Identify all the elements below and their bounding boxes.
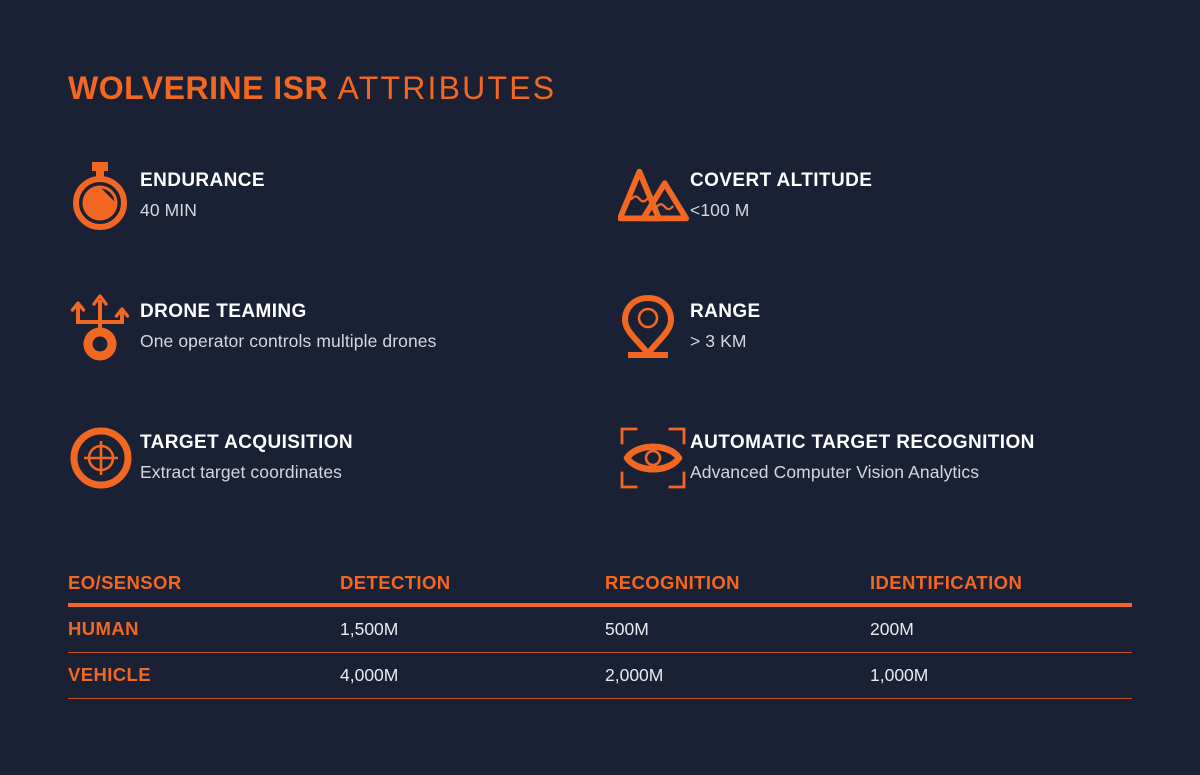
feature-row: TARGET ACQUISITION Extract target coordi… (68, 420, 1138, 494)
feature-text: DRONE TEAMING One operator controls mult… (140, 289, 437, 351)
feature-automatic-target-recognition: AUTOMATIC TARGET RECOGNITION Advanced Co… (618, 420, 1138, 494)
feature-subtitle: Extract target coordinates (140, 462, 353, 482)
feature-title: RANGE (690, 301, 761, 323)
feature-range: RANGE > 3 KM (618, 289, 1138, 363)
eye-focus-icon (618, 422, 690, 494)
feature-grid: ENDURANCE 40 MIN COVERT ALTITUDE <100 M (68, 158, 1138, 494)
mountains-icon (618, 160, 690, 232)
feature-text: RANGE > 3 KM (690, 289, 761, 351)
page-title-light: ATTRIBUTES (338, 70, 557, 106)
column-header-sensor: EO/SENSOR (68, 572, 340, 605)
cell-human-identification: 200M (870, 605, 1132, 653)
crosshair-icon (68, 422, 140, 494)
drone-teaming-icon (68, 291, 140, 363)
map-pin-icon (618, 291, 690, 363)
column-header-identification: IDENTIFICATION (870, 572, 1132, 605)
feature-row: DRONE TEAMING One operator controls mult… (68, 289, 1138, 363)
feature-title: AUTOMATIC TARGET RECOGNITION (690, 432, 1035, 454)
feature-covert-altitude: COVERT ALTITUDE <100 M (618, 158, 1138, 232)
feature-text: TARGET ACQUISITION Extract target coordi… (140, 420, 353, 482)
feature-title: DRONE TEAMING (140, 301, 437, 323)
row-label-vehicle: VEHICLE (68, 653, 340, 699)
stopwatch-icon (68, 160, 140, 232)
feature-row: ENDURANCE 40 MIN COVERT ALTITUDE <100 M (68, 158, 1138, 232)
page-title: WOLVERINE ISR ATTRIBUTES (68, 72, 556, 104)
row-label-human: HUMAN (68, 605, 340, 653)
column-header-detection: DETECTION (340, 572, 605, 605)
feature-target-acquisition: TARGET ACQUISITION Extract target coordi… (68, 420, 618, 494)
feature-subtitle: > 3 KM (690, 331, 761, 351)
page-title-bold: WOLVERINE ISR (68, 70, 328, 106)
feature-title: ENDURANCE (140, 170, 265, 192)
cell-vehicle-recognition: 2,000M (605, 653, 870, 699)
cell-human-detection: 1,500M (340, 605, 605, 653)
column-header-recognition: RECOGNITION (605, 572, 870, 605)
feature-drone-teaming: DRONE TEAMING One operator controls mult… (68, 289, 618, 363)
feature-subtitle: <100 M (690, 200, 872, 220)
spec-table: EO/SENSOR DETECTION RECOGNITION IDENTIFI… (68, 572, 1132, 699)
feature-subtitle: Advanced Computer Vision Analytics (690, 462, 1035, 482)
feature-title: COVERT ALTITUDE (690, 170, 872, 192)
feature-text: ENDURANCE 40 MIN (140, 158, 265, 220)
cell-vehicle-detection: 4,000M (340, 653, 605, 699)
table-row: HUMAN 1,500M 500M 200M (68, 605, 1132, 653)
feature-subtitle: One operator controls multiple drones (140, 331, 437, 351)
cell-vehicle-identification: 1,000M (870, 653, 1132, 699)
feature-subtitle: 40 MIN (140, 200, 265, 220)
feature-text: AUTOMATIC TARGET RECOGNITION Advanced Co… (690, 420, 1035, 482)
cell-human-recognition: 500M (605, 605, 870, 653)
table-header-row: EO/SENSOR DETECTION RECOGNITION IDENTIFI… (68, 572, 1132, 605)
feature-title: TARGET ACQUISITION (140, 432, 353, 454)
feature-text: COVERT ALTITUDE <100 M (690, 158, 872, 220)
feature-endurance: ENDURANCE 40 MIN (68, 158, 618, 232)
table-row: VEHICLE 4,000M 2,000M 1,000M (68, 653, 1132, 699)
